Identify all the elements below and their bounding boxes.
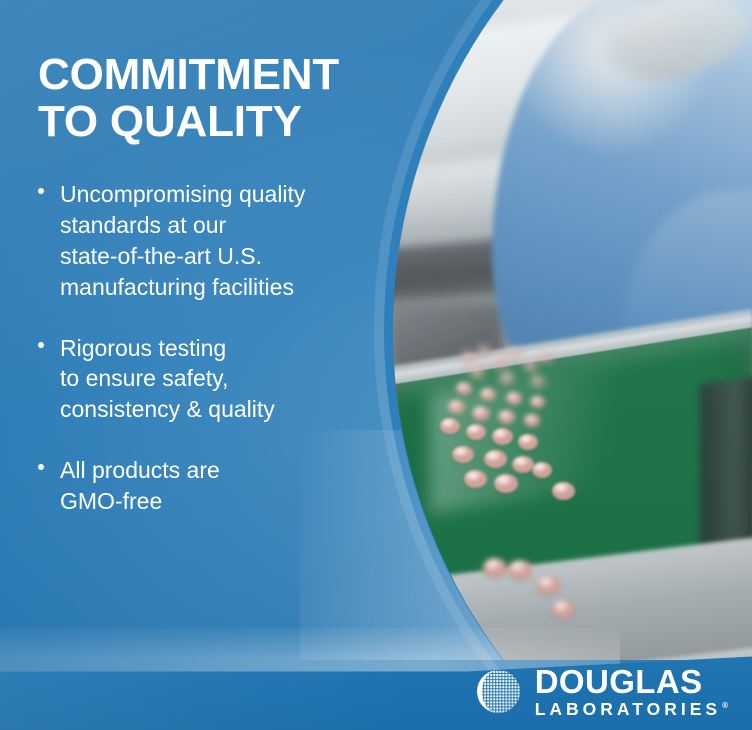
benefits-list: Uncompromising quality standards at our … <box>38 179 420 516</box>
bullet-line: Uncompromising quality <box>60 179 400 210</box>
logo-subname: LABORATORIES <box>535 701 721 719</box>
marketing-graphic: COMMITMENT TO QUALITY Uncompromising qua… <box>0 0 752 730</box>
bullet-line: standards at our <box>60 210 400 241</box>
bullet-line: Rigorous testing <box>60 333 400 364</box>
bullet-line: manufacturing facilities <box>60 272 400 303</box>
bullet-line: GMO-free <box>60 486 400 517</box>
bullet-line: state-of-the-art U.S. <box>60 241 400 272</box>
content-column: COMMITMENT TO QUALITY Uncompromising qua… <box>0 0 420 547</box>
list-item-rigorous-testing: Rigorous testing to ensure safety, consi… <box>38 333 400 425</box>
list-item-gmo-free: All products are GMO-free <box>38 455 400 517</box>
list-item-quality-standards: Uncompromising quality standards at our … <box>38 179 400 302</box>
halftone-dotted-circle-icon <box>475 668 522 715</box>
bullet-dot-icon <box>38 464 44 470</box>
bullet-line: consistency & quality <box>60 394 400 425</box>
brand-logo: DOUGLAS LABORATORIES ® <box>475 665 728 719</box>
bullet-line: All products are <box>60 455 400 486</box>
page-title-line-2: TO QUALITY <box>38 99 420 146</box>
bullet-line: to ensure safety, <box>60 363 400 394</box>
logo-name: DOUGLAS <box>535 665 728 698</box>
bullet-dot-icon <box>38 342 44 348</box>
registered-mark: ® <box>722 702 728 710</box>
page-title-line-1: COMMITMENT <box>38 50 339 99</box>
logo-subname-row: LABORATORIES ® <box>535 701 728 719</box>
page-title: COMMITMENT TO QUALITY <box>38 52 420 145</box>
logo-wordmark: DOUGLAS LABORATORIES ® <box>535 665 728 719</box>
bullet-dot-icon <box>38 188 44 194</box>
